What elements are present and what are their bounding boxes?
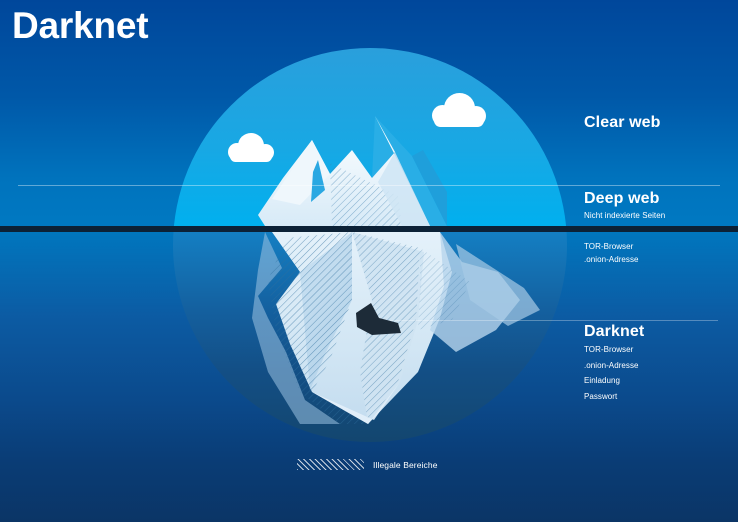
label-darknet-line4: Passwort — [584, 391, 644, 404]
hatch-pattern-swatch — [297, 459, 364, 470]
background-circle-water-half — [173, 229, 567, 442]
waterline — [0, 226, 738, 232]
page-title: Darknet — [12, 6, 148, 47]
label-deep-web-heading: Deep web — [584, 190, 665, 208]
darknet-divider — [390, 320, 718, 321]
legend-label: Illegale Bereiche — [373, 460, 438, 470]
label-darknet-line1: TOR-Browser — [584, 344, 644, 357]
cloud-left-icon — [228, 133, 274, 163]
legend: Illegale Bereiche — [297, 459, 438, 470]
label-darknet-line3: Einladung — [584, 375, 644, 388]
label-tor-zone-line1: TOR-Browser — [584, 241, 639, 254]
background-circle — [173, 48, 567, 442]
label-darknet-line2: .onion-Adresse — [584, 360, 644, 373]
label-deep-web: Deep web Nicht indexierte Seiten — [584, 190, 665, 223]
label-deep-web-subtitle: Nicht indexierte Seiten — [584, 210, 665, 223]
deep-web-divider — [18, 185, 720, 186]
label-darknet: Darknet TOR-Browser .onion-Adresse Einla… — [584, 323, 644, 403]
label-tor-zone: TOR-Browser .onion-Adresse — [584, 241, 639, 266]
infographic-canvas: Darknet Clear web Deep web Nicht indexie… — [0, 0, 738, 522]
label-clear-web: Clear web — [584, 114, 661, 132]
cloud-right-icon — [432, 93, 486, 129]
label-tor-zone-line2: .onion-Adresse — [584, 254, 639, 267]
label-darknet-heading: Darknet — [584, 323, 644, 341]
label-clear-web-heading: Clear web — [584, 114, 661, 132]
